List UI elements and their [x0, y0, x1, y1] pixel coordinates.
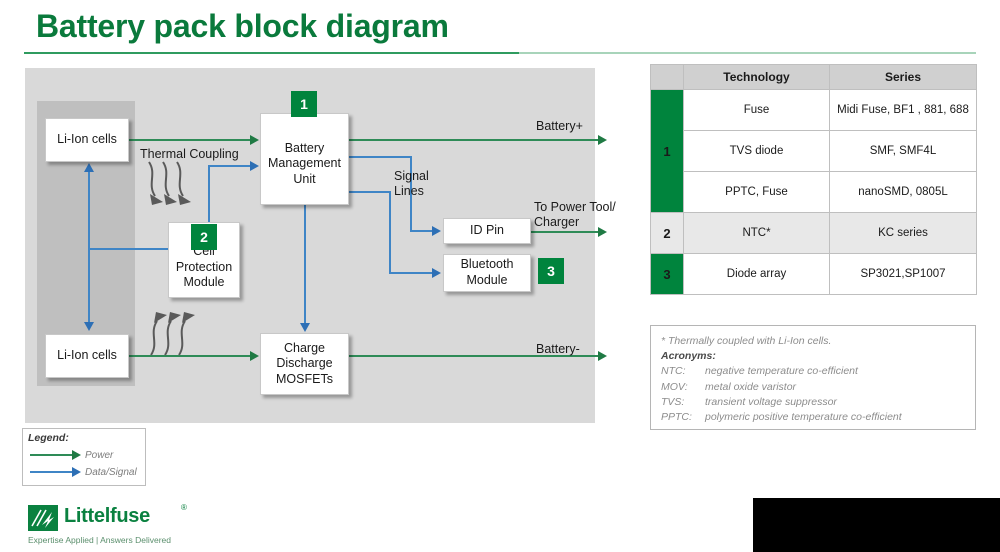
table-cell-technology: PPTC, Fuse: [684, 172, 830, 213]
table-row: PPTC, Fuse nanoSMD, 0805L: [651, 172, 977, 213]
bluetooth-label-line1: Bluetooth: [461, 257, 514, 273]
mosfets-label-line1: Charge: [276, 341, 333, 357]
arrow-data-to-bluetooth: [432, 268, 441, 278]
title-underline-rule: [24, 52, 976, 54]
legend-data-line-sample: [30, 471, 75, 473]
table-cell-series: SP3021,SP1007: [830, 254, 977, 295]
label-signal-lines: Signal Lines: [394, 169, 454, 199]
label-thermal-coupling: Thermal Coupling: [140, 147, 239, 162]
table-row: 2 NTC* KC series: [651, 213, 977, 254]
data-line-bmu-to-mosfets-vertical: [304, 205, 306, 325]
badge-3[interactable]: 3: [538, 258, 564, 284]
littelfuse-tagline: Expertise Applied | Answers Delivered: [28, 535, 171, 545]
cpm-label-line3: Module: [176, 275, 232, 291]
badge-2[interactable]: 2: [191, 224, 217, 250]
table-cell-series: nanoSMD, 0805L: [830, 172, 977, 213]
arrow-data-cpm-to-bmu: [250, 161, 259, 171]
table-cell-series: SMF, SMF4L: [830, 131, 977, 172]
registered-trademark-icon: ®: [181, 503, 187, 512]
table-cell-technology: NTC*: [684, 213, 830, 254]
arrow-data-to-liion-bottom: [84, 322, 94, 331]
table-header-technology: Technology: [684, 65, 830, 90]
note-acronyms-title: Acronyms:: [661, 349, 965, 364]
block-battery-management-unit[interactable]: Battery Management Unit: [260, 113, 349, 205]
acronym-key-tvs: TVS:: [661, 395, 705, 410]
notes-box: * Thermally coupled with Li-Ion cells. A…: [650, 325, 976, 430]
littelfuse-wordmark: Littelfuse: [64, 505, 150, 528]
data-line-to-bluetooth-stub: [389, 272, 434, 274]
acronym-key-ntc: NTC:: [661, 364, 705, 379]
acronym-value-tvs: transient voltage suppressor: [705, 396, 837, 408]
power-line-liion-top-to-bmu: [129, 139, 251, 141]
block-liion-cells-bottom-label: Li-Ion cells: [57, 348, 117, 364]
data-line-bmu-to-idpin-horizontal: [349, 156, 412, 158]
data-line-bmu-to-bluetooth-vertical: [389, 191, 391, 274]
badge-1[interactable]: 1: [291, 91, 317, 117]
cpm-label-line2: Protection: [176, 260, 232, 276]
technology-series-table: Technology Series 1 Fuse Midi Fuse, BF1 …: [650, 64, 977, 295]
thermal-coupling-lower-icon: [145, 303, 215, 365]
acronym-key-pptc: PPTC:: [661, 410, 705, 425]
block-id-pin-label: ID Pin: [470, 223, 504, 239]
table-cell-technology: Diode array: [684, 254, 830, 295]
acronym-key-mov: MOV:: [661, 380, 705, 395]
page-title: Battery pack block diagram: [36, 8, 449, 45]
thermal-coupling-upper-icon: [145, 158, 215, 220]
bmu-label-line1: Battery: [268, 141, 341, 157]
legend-data-arrow-icon: [72, 467, 81, 477]
table-row: 3 Diode array SP3021,SP1007: [651, 254, 977, 295]
block-liion-cells-top[interactable]: Li-Ion cells: [45, 118, 129, 162]
legend-power-arrow-icon: [72, 450, 81, 460]
table-group-number-2: 2: [651, 213, 684, 254]
arrow-data-to-idpin: [432, 226, 441, 236]
table-cell-series: KC series: [830, 213, 977, 254]
bluetooth-label-line2: Module: [461, 273, 514, 289]
data-line-bmu-to-bluetooth-horizontal: [349, 191, 391, 193]
legend-power-line-sample: [30, 454, 75, 456]
power-line-idpin-to-powertool: [531, 231, 599, 233]
acronym-value-mov: metal oxide varistor: [705, 381, 796, 393]
legend-title: Legend:: [28, 432, 69, 444]
block-charge-discharge-mosfets[interactable]: Charge Discharge MOSFETs: [260, 333, 349, 395]
table-header-row: Technology Series: [651, 65, 977, 90]
table-cell-technology: Fuse: [684, 90, 830, 131]
block-id-pin[interactable]: ID Pin: [443, 218, 531, 244]
littelfuse-logo-icon: [28, 505, 58, 531]
table-row: TVS diode SMF, SMF4L: [651, 131, 977, 172]
table-header-number: [651, 65, 684, 90]
block-liion-cells-bottom[interactable]: Li-Ion cells: [45, 334, 129, 378]
label-to-power-tool-charger: To Power Tool/ Charger: [534, 200, 626, 230]
note-acronym-pptc: PPTC:polymeric positive temperature co-e…: [661, 410, 965, 425]
block-bluetooth-module[interactable]: Bluetooth Module: [443, 254, 531, 292]
note-acronym-mov: MOV:metal oxide varistor: [661, 380, 965, 395]
mosfets-label-line3: MOSFETs: [276, 372, 333, 388]
arrow-power-battery-plus: [598, 135, 607, 145]
black-overlay-block: [753, 498, 1000, 552]
acronym-value-pptc: polymeric positive temperature co-effici…: [705, 411, 902, 423]
note-footnote: * Thermally coupled with Li-Ion cells.: [661, 334, 965, 349]
bmu-label-line3: Unit: [268, 172, 341, 188]
legend-data-signal-label: Data/Signal: [85, 467, 137, 478]
mosfets-label-line2: Discharge: [276, 356, 333, 372]
block-liion-cells-top-label: Li-Ion cells: [57, 132, 117, 148]
arrow-data-bmu-to-mosfets: [300, 323, 310, 332]
arrow-data-to-liion-top: [84, 163, 94, 172]
arrow-power-liion-bottom-to-mosfets: [250, 351, 259, 361]
note-acronym-tvs: TVS:transient voltage suppressor: [661, 395, 965, 410]
data-line-cpm-to-liion-top-vertical: [88, 171, 90, 249]
data-line-cpm-to-cellstack-horizontal: [88, 248, 169, 250]
table-header-series: Series: [830, 65, 977, 90]
data-line-to-idpin-stub: [410, 230, 434, 232]
table-group-number-1: 1: [651, 90, 684, 213]
power-line-bmu-to-battery-plus: [349, 139, 599, 141]
label-battery-minus: Battery-: [536, 342, 580, 357]
bmu-label-line2: Management: [268, 156, 341, 172]
arrow-power-battery-minus: [598, 351, 607, 361]
note-acronym-ntc: NTC:negative temperature co-efficient: [661, 364, 965, 379]
table-row: 1 Fuse Midi Fuse, BF1 , 881, 688: [651, 90, 977, 131]
acronym-value-ntc: negative temperature co-efficient: [705, 365, 858, 377]
table-cell-technology: TVS diode: [684, 131, 830, 172]
table-group-number-3: 3: [651, 254, 684, 295]
arrow-power-liion-top-to-bmu: [250, 135, 259, 145]
table-cell-series: Midi Fuse, BF1 , 881, 688: [830, 90, 977, 131]
legend-power-label: Power: [85, 450, 113, 461]
label-battery-plus: Battery+: [536, 119, 583, 134]
data-line-cpm-to-liion-bottom-vertical: [88, 248, 90, 324]
